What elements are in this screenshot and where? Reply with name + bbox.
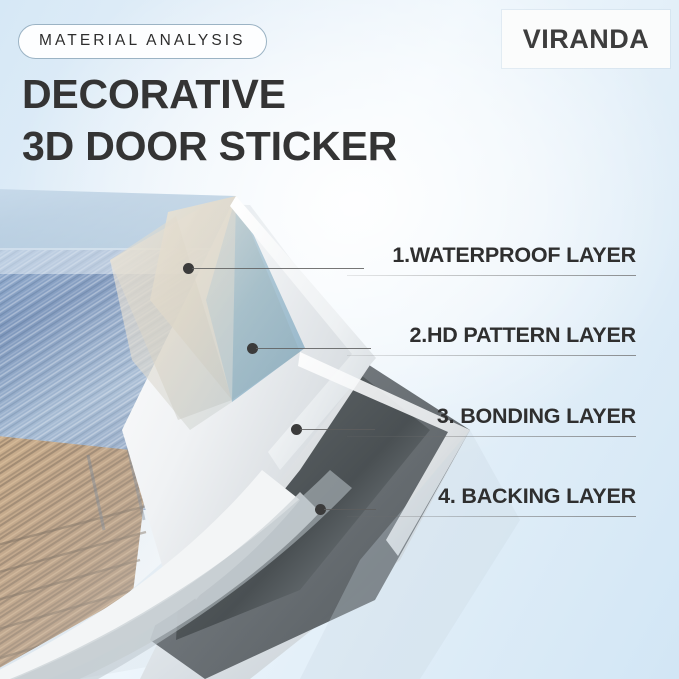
callout-rule-3 bbox=[347, 436, 636, 437]
page-title: DECORATIVE 3D DOOR STICKER bbox=[22, 68, 397, 172]
material-analysis-infographic: MATERIAL ANALYSIS DECORATIVE 3D DOOR STI… bbox=[0, 0, 679, 679]
callout-label-1: 1.WATERPROOF LAYER bbox=[236, 243, 636, 268]
material-analysis-badge: MATERIAL ANALYSIS bbox=[18, 24, 267, 59]
callout-leader-3 bbox=[300, 429, 375, 430]
title-line-2: 3D DOOR STICKER bbox=[22, 120, 397, 172]
callout-leader-2 bbox=[256, 348, 371, 349]
callout-label-3: 3. BONDING LAYER bbox=[236, 404, 636, 429]
callout-rule-1 bbox=[347, 275, 636, 276]
callout-label-2: 2.HD PATTERN LAYER bbox=[236, 323, 636, 348]
callout-rule-4 bbox=[347, 516, 636, 517]
callout-label-4: 4. BACKING LAYER bbox=[236, 484, 636, 509]
brand-logo-text: VIRANDA bbox=[523, 24, 650, 55]
callout-leader-4 bbox=[324, 509, 376, 510]
title-line-1: DECORATIVE bbox=[22, 71, 286, 117]
callout-leader-1 bbox=[192, 268, 364, 269]
callout-rule-2 bbox=[347, 355, 636, 356]
brand-logo: VIRANDA bbox=[502, 10, 670, 68]
